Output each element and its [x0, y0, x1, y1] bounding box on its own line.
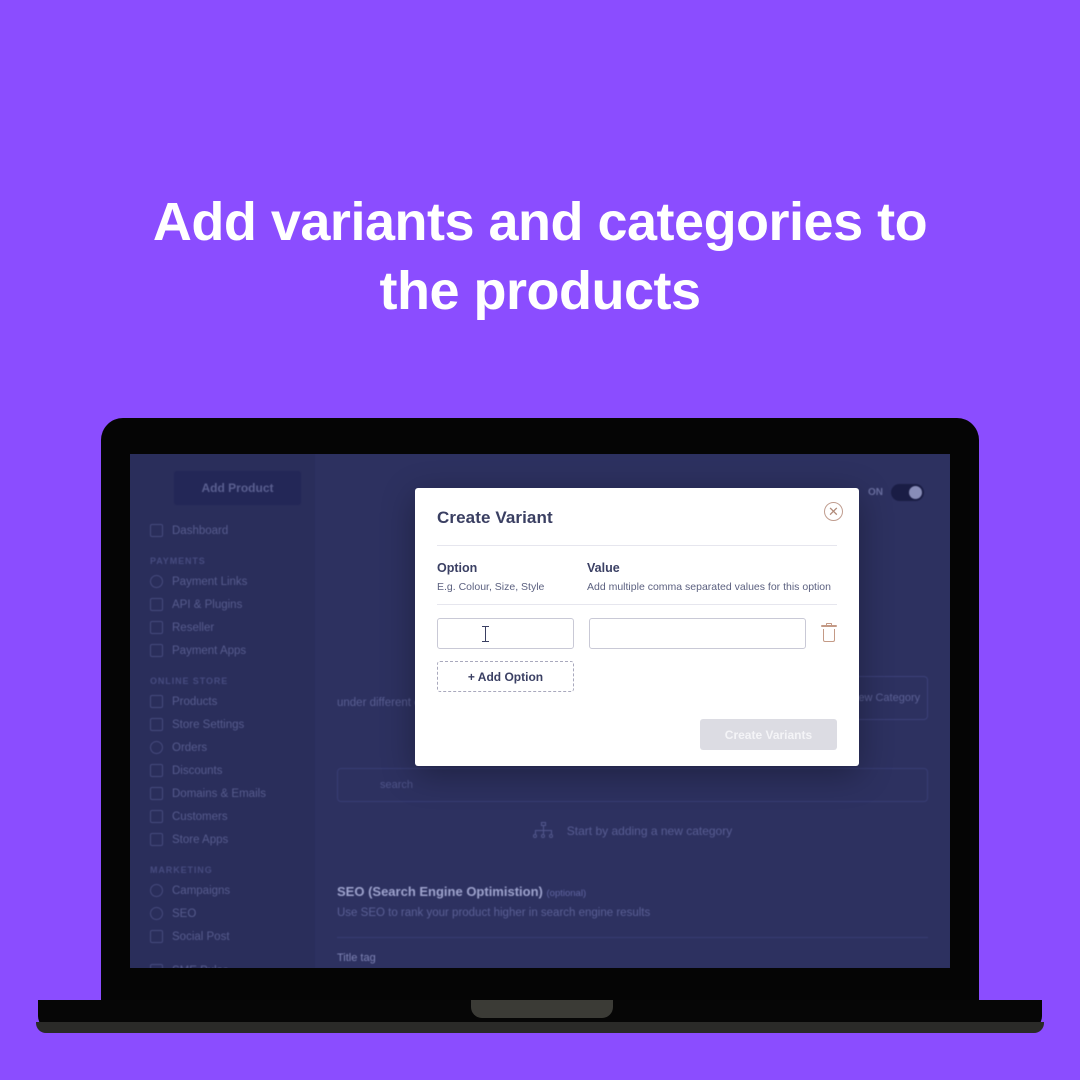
sidebar-item-label: Store Settings	[172, 719, 244, 731]
reseller-icon	[150, 621, 163, 634]
category-search-input[interactable]: search	[337, 768, 928, 802]
pulse-icon	[150, 964, 163, 968]
sidebar-item-label: SME Pulse	[172, 965, 229, 969]
sidebar-item-store-settings[interactable]: Store Settings	[130, 713, 315, 736]
close-circle-icon[interactable]: ✕	[824, 502, 843, 521]
sidebar-item-label: Dashboard	[172, 525, 228, 537]
sitemap-icon	[533, 822, 553, 840]
seo-title: SEO (Search Engine Optimistion) (optiona…	[337, 884, 928, 899]
sidebar-item-reseller[interactable]: Reseller	[130, 616, 315, 639]
option-column: Option E.g. Colour, Size, Style	[437, 561, 587, 593]
variant-row	[437, 618, 837, 649]
sidebar-item-store-apps[interactable]: Store Apps	[130, 828, 315, 851]
seo-block: SEO (Search Engine Optimistion) (optiona…	[337, 884, 928, 968]
sidebar-item-api-plugins[interactable]: API & Plugins	[130, 593, 315, 616]
sidebar-item-label: Discounts	[172, 765, 223, 777]
seo-title-text: SEO (Search Engine Optimistion)	[337, 884, 543, 899]
sidebar-item-label: Orders	[172, 742, 207, 754]
apps-icon	[150, 644, 163, 657]
campaigns-icon	[150, 884, 163, 897]
option-name-input[interactable]	[437, 618, 574, 649]
modal-header-divider	[437, 545, 837, 546]
sidebar-item-label: Reseller	[172, 622, 214, 634]
value-column-hint: Add multiple comma separated values for …	[587, 581, 837, 593]
sidebar: Add Product Dashboard PAYMENTS Payment L…	[130, 454, 315, 968]
seo-description: Use SEO to rank your product higher in s…	[337, 907, 928, 919]
columns-divider	[437, 604, 837, 605]
store-settings-icon	[150, 718, 163, 731]
seo-title-tag-label: Title tag	[337, 952, 928, 964]
sidebar-item-dashboard[interactable]: Dashboard	[130, 519, 315, 542]
sidebar-item-label: Campaigns	[172, 885, 230, 897]
value-column: Value Add multiple comma separated value…	[587, 561, 837, 593]
sidebar-item-campaigns[interactable]: Campaigns	[130, 879, 315, 902]
sidebar-item-products[interactable]: Products	[130, 690, 315, 713]
laptop-screen: Add Product Dashboard PAYMENTS Payment L…	[130, 454, 950, 968]
empty-state-text: Start by adding a new category	[567, 824, 732, 838]
orders-icon	[150, 741, 163, 754]
seo-divider	[337, 937, 928, 938]
create-variants-button[interactable]: Create Variants	[700, 719, 837, 750]
sidebar-item-label: API & Plugins	[172, 599, 242, 611]
laptop-base-lip	[36, 1022, 1044, 1033]
variant-columns-header: Option E.g. Colour, Size, Style Value Ad…	[437, 561, 837, 593]
sidebar-section-online-store: ONLINE STORE	[130, 662, 315, 690]
sidebar-item-label: Products	[172, 696, 217, 708]
add-product-button[interactable]: Add Product	[174, 471, 301, 505]
option-column-hint: E.g. Colour, Size, Style	[437, 581, 587, 593]
toggle-label: ON	[868, 487, 883, 498]
sidebar-item-label: Domains & Emails	[172, 788, 266, 800]
modal-footer: Create Variants	[437, 719, 837, 750]
sidebar-item-orders[interactable]: Orders	[130, 736, 315, 759]
create-variant-modal: Create Variant ✕ Option E.g. Colour, Siz…	[415, 488, 859, 766]
dashboard-icon	[150, 524, 163, 537]
sidebar-item-label: Payment Links	[172, 576, 247, 588]
discounts-icon	[150, 764, 163, 777]
sidebar-item-customers[interactable]: Customers	[130, 805, 315, 828]
sidebar-item-domains-emails[interactable]: Domains & Emails	[130, 782, 315, 805]
product-status-toggle-row: ON	[868, 484, 924, 501]
sidebar-section-marketing: MARKETING	[130, 851, 315, 879]
sidebar-item-sme-pulse[interactable]: SME Pulse	[130, 959, 315, 968]
app-window: Add Product Dashboard PAYMENTS Payment L…	[130, 454, 950, 968]
sidebar-item-seo[interactable]: SEO	[130, 902, 315, 925]
products-icon	[150, 695, 163, 708]
toggle-knob	[909, 486, 922, 499]
option-values-input[interactable]	[589, 618, 806, 649]
sidebar-item-label: Payment Apps	[172, 645, 246, 657]
social-post-icon	[150, 930, 163, 943]
sidebar-section-payments: PAYMENTS	[130, 542, 315, 570]
seo-icon	[150, 907, 163, 920]
link-icon	[150, 575, 163, 588]
sidebar-item-label: Social Post	[172, 931, 230, 943]
text-cursor-icon	[485, 626, 486, 642]
page-title: Add variants and categories to the produ…	[0, 188, 1080, 326]
categories-empty-state: Start by adding a new category	[315, 822, 950, 840]
customers-icon	[150, 810, 163, 823]
sidebar-item-payment-links[interactable]: Payment Links	[130, 570, 315, 593]
seo-optional-tag: (optional)	[547, 888, 587, 899]
sidebar-item-payment-apps[interactable]: Payment Apps	[130, 639, 315, 662]
trash-icon[interactable]	[821, 625, 837, 642]
laptop-mockup: Add Product Dashboard PAYMENTS Payment L…	[101, 418, 979, 1018]
domains-icon	[150, 787, 163, 800]
modal-title: Create Variant	[437, 508, 837, 528]
value-column-header: Value	[587, 561, 837, 575]
add-option-button[interactable]: + Add Option	[437, 661, 574, 692]
sidebar-item-label: Store Apps	[172, 834, 228, 846]
option-column-header: Option	[437, 561, 587, 575]
plug-icon	[150, 598, 163, 611]
sidebar-item-social-post[interactable]: Social Post	[130, 925, 315, 948]
sidebar-item-discounts[interactable]: Discounts	[130, 759, 315, 782]
sidebar-item-label: SEO	[172, 908, 196, 920]
laptop-trackpad-notch	[471, 1000, 613, 1018]
sidebar-item-label: Customers	[172, 811, 228, 823]
store-apps-icon	[150, 833, 163, 846]
product-status-toggle[interactable]	[891, 484, 924, 501]
